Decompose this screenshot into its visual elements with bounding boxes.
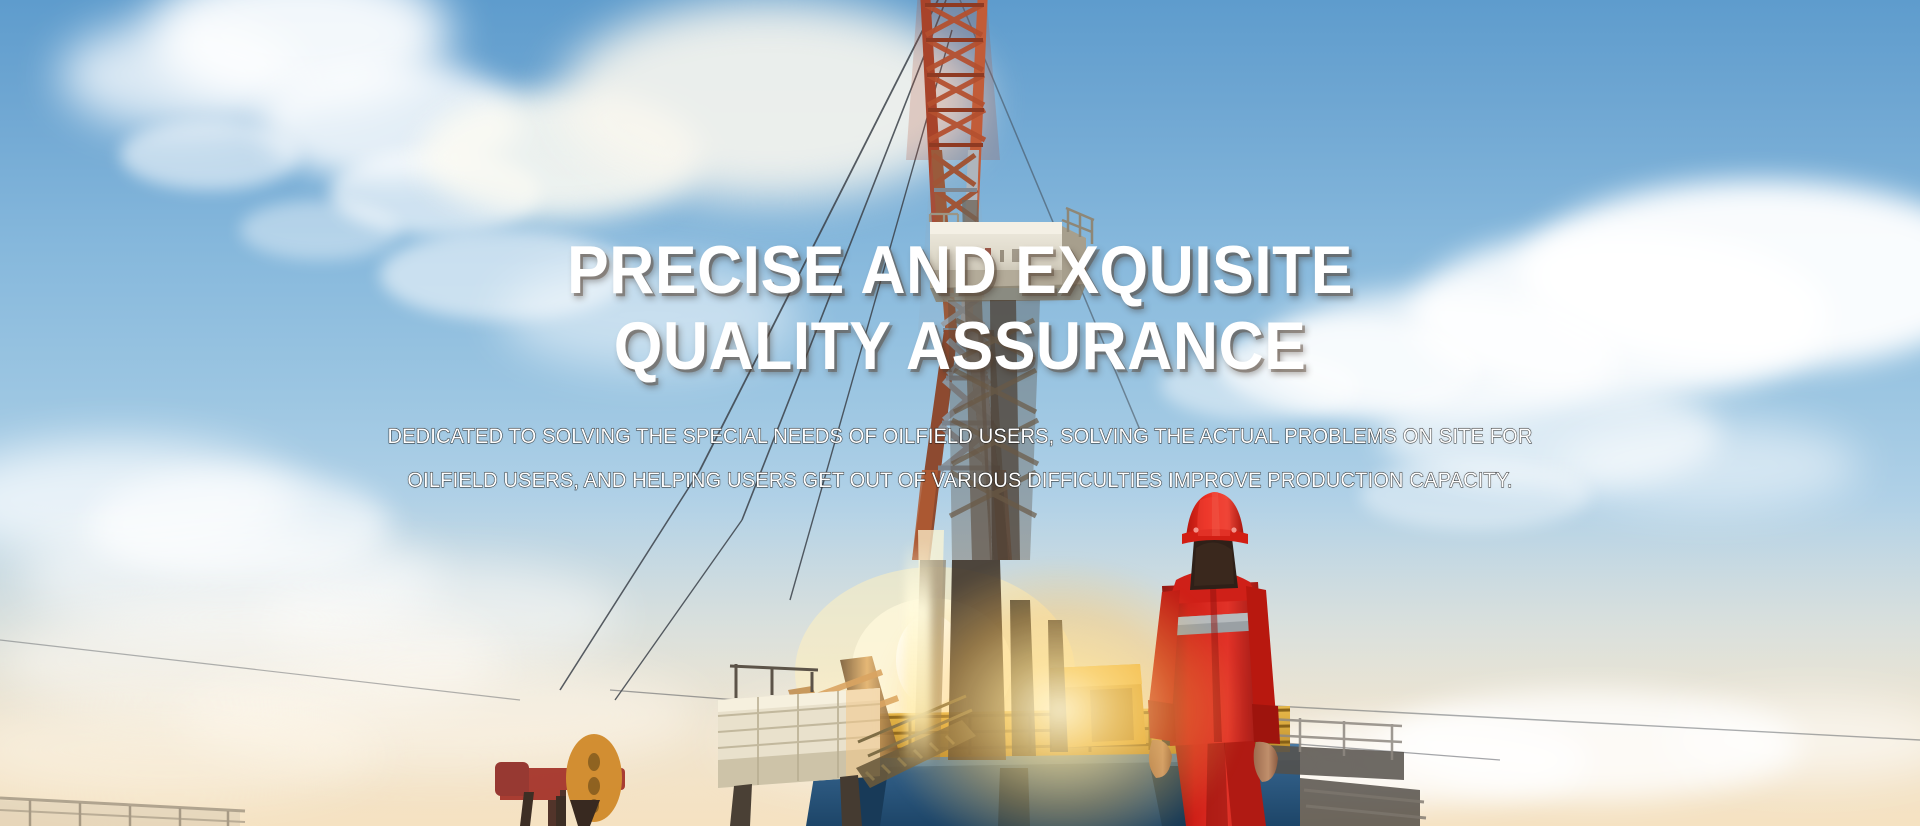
hero-banner: PRECISE AND EXQUISITE QUALITY ASSURANCE …: [0, 0, 1920, 826]
sun-beam-overlay: [905, 540, 931, 770]
cloud: [560, 0, 980, 200]
sun-glow-overlay: [880, 560, 1240, 826]
subtext-line-2: OILFIELD USERS, AND HELPING USERS GET OU…: [67, 458, 1853, 502]
subtext-line-1: DEDICATED TO SOLVING THE SPECIAL NEEDS O…: [67, 414, 1853, 458]
headline-line-2: QUALITY ASSURANCE: [77, 308, 1843, 384]
page-title: PRECISE AND EXQUISITE QUALITY ASSURANCE: [77, 232, 1843, 384]
banner-content: PRECISE AND EXQUISITE QUALITY ASSURANCE …: [0, 232, 1920, 502]
banner-subtext: DEDICATED TO SOLVING THE SPECIAL NEEDS O…: [67, 414, 1853, 502]
cloud: [120, 120, 300, 190]
headline-line-1: PRECISE AND EXQUISITE: [77, 232, 1843, 308]
